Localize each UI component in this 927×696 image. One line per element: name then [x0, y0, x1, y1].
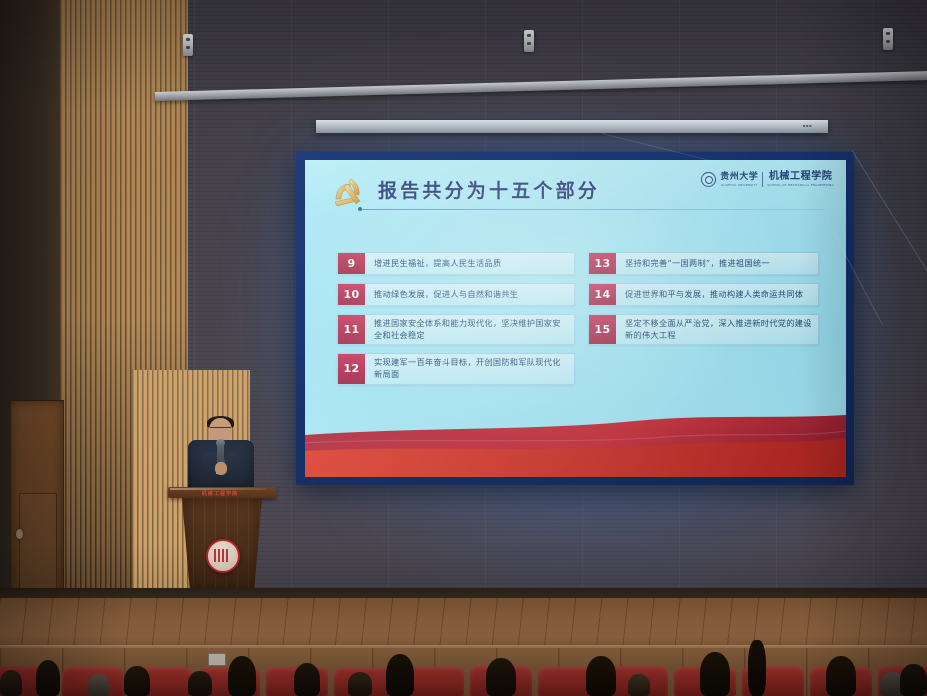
college-name-en: SCHOOL OF MECHANICAL ENGINEERING	[767, 184, 834, 187]
audience-head	[188, 671, 212, 696]
projection-screen-valance: ▪▪▪	[316, 120, 828, 133]
audience-head	[486, 658, 516, 696]
item-text: 增进民生福祉，提高人民生活品质	[365, 253, 574, 274]
wooden-door-icon[interactable]	[10, 400, 64, 612]
item-text: 坚持和完善“一国两制”，推进祖国统一	[616, 253, 818, 274]
university-name-cn: 贵州大学	[720, 173, 758, 182]
item-number-badge: 9	[338, 253, 365, 274]
university-name-en: GUIZHOU UNIVERSITY	[721, 184, 758, 187]
audience-head	[900, 664, 927, 696]
audience-head	[0, 670, 22, 696]
audience-head	[36, 660, 60, 696]
item-number-badge: 15	[589, 315, 616, 344]
slide-content-columns: 9 增进民生福祉，提高人民生活品质 10 推动绿色发展，促进人与自然和谐共生 1…	[337, 252, 819, 385]
audience-head	[386, 654, 414, 696]
audience-row	[0, 656, 927, 696]
list-item: 10 推动绿色发展，促进人与自然和谐共生	[337, 283, 575, 306]
wall-fixture-icon	[883, 28, 893, 50]
audience-head	[88, 674, 109, 696]
item-number-badge: 13	[589, 253, 616, 274]
podium-nameplate: 机械工程学院	[184, 490, 256, 496]
item-text: 推进国家安全体系和能力现代化，坚决维护国家安全和社会稳定	[365, 315, 574, 344]
audience-head	[348, 672, 372, 696]
list-item: 14 促进世界和平与发展，推动构建人类命运共同体	[588, 283, 819, 306]
list-item: 9 增进民生福祉，提高人民生活品质	[337, 252, 575, 275]
title-divider	[361, 209, 823, 210]
audience-head	[826, 656, 856, 696]
list-item: 12 实现建军一百年奋斗目标，开创国防和军队现代化新局面	[337, 353, 575, 384]
item-number-badge: 14	[589, 284, 616, 305]
university-name-block: 贵州大学 GUIZHOU UNIVERSITY	[720, 173, 758, 187]
audience-head	[700, 652, 730, 696]
item-text: 促进世界和平与发展，推动构建人类命运共同体	[616, 284, 818, 305]
item-text: 实现建军一百年奋斗目标，开创国防和军队现代化新局面	[365, 354, 574, 383]
audience-head	[586, 656, 616, 696]
university-seal-icon	[701, 172, 716, 187]
door-panel	[19, 493, 57, 595]
wall-fixture-icon	[524, 30, 534, 52]
podium-plate-text: 机械工程学院	[202, 490, 239, 497]
list-item: 11 推进国家安全体系和能力现代化，坚决维护国家安全和社会稳定	[337, 314, 575, 345]
audience-head	[228, 656, 256, 696]
audience-head	[294, 663, 320, 696]
glasses-icon	[210, 427, 231, 433]
list-item: 15 坚定不移全面从严治党，深入推进新时代党的建设新的伟大工程	[588, 314, 819, 345]
audience-head	[124, 666, 150, 696]
speaker-hands	[215, 462, 227, 475]
valance-label: ▪▪▪	[803, 123, 812, 128]
wall-fixture-icon	[183, 34, 193, 56]
microphone-head	[216, 439, 225, 447]
auditorium-scene: ▪▪▪ 报告共分为十	[0, 0, 927, 696]
column-left: 9 增进民生福祉，提高人民生活品质 10 推动绿色发展，促进人与自然和谐共生 1…	[337, 252, 575, 385]
ribbon-shape	[305, 405, 846, 477]
speaker-presenter	[188, 418, 254, 492]
college-name-block: 机械工程学院 SCHOOL OF MECHANICAL ENGINEERING	[767, 172, 834, 187]
item-number-badge: 10	[338, 284, 365, 305]
item-number-badge: 12	[338, 354, 365, 383]
audience-head	[748, 640, 766, 696]
list-item: 13 坚持和完善“一国两制”，推进祖国统一	[588, 252, 819, 275]
slide-footer-ribbon	[305, 405, 846, 477]
audience-head	[628, 674, 650, 696]
presentation-slide: 报告共分为十五个部分 贵州大学 GUIZHOU UNIVERSITY 机械工程学…	[305, 160, 846, 477]
university-round-emblem-icon	[206, 539, 240, 573]
item-text: 坚定不移全面从严治党，深入推进新时代党的建设新的伟大工程	[616, 315, 818, 344]
door-knob-icon[interactable]	[16, 529, 23, 539]
column-right: 13 坚持和完善“一国两制”，推进祖国统一 14 促进世界和平与发展，推动构建人…	[588, 252, 819, 385]
item-number-badge: 11	[338, 315, 365, 344]
item-text: 推动绿色发展，促进人与自然和谐共生	[365, 284, 574, 305]
slide-title: 报告共分为十五个部分	[378, 176, 600, 203]
